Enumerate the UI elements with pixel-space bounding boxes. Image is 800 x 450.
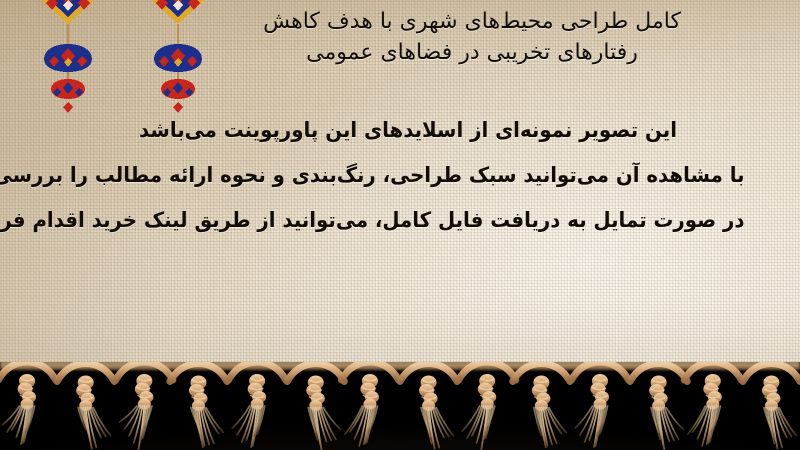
slide-body: این تصویر نمونه‌ای از اسلایدهای این پاور… <box>50 108 766 243</box>
title-line-2: رفتارهای تخریبی در فضاهای عمومی <box>172 37 772 68</box>
slide-title: کامل طراحی محیط‌های شهری با هدف کاهش رفت… <box>172 6 772 68</box>
slide-canvas: کامل طراحی محیط‌های شهری با هدف کاهش رفت… <box>0 0 800 450</box>
persian-carpet-medallion-left <box>10 0 126 44</box>
body-line-1: این تصویر نمونه‌ای از اسلایدهای این پاور… <box>71 108 744 153</box>
carpet-knotted-fringe <box>0 362 800 450</box>
carpet-fringe-band <box>0 362 800 450</box>
persian-carpet-pendant-left <box>44 44 92 113</box>
title-line-1: کامل طراحی محیط‌های شهری با هدف کاهش <box>172 6 772 37</box>
body-line-3: در صورت تمایل به دریافت فایل کامل، می‌تو… <box>71 198 744 243</box>
body-line-2: با مشاهده آن می‌توانید سبک طراحی، رنگ‌بن… <box>71 153 744 198</box>
